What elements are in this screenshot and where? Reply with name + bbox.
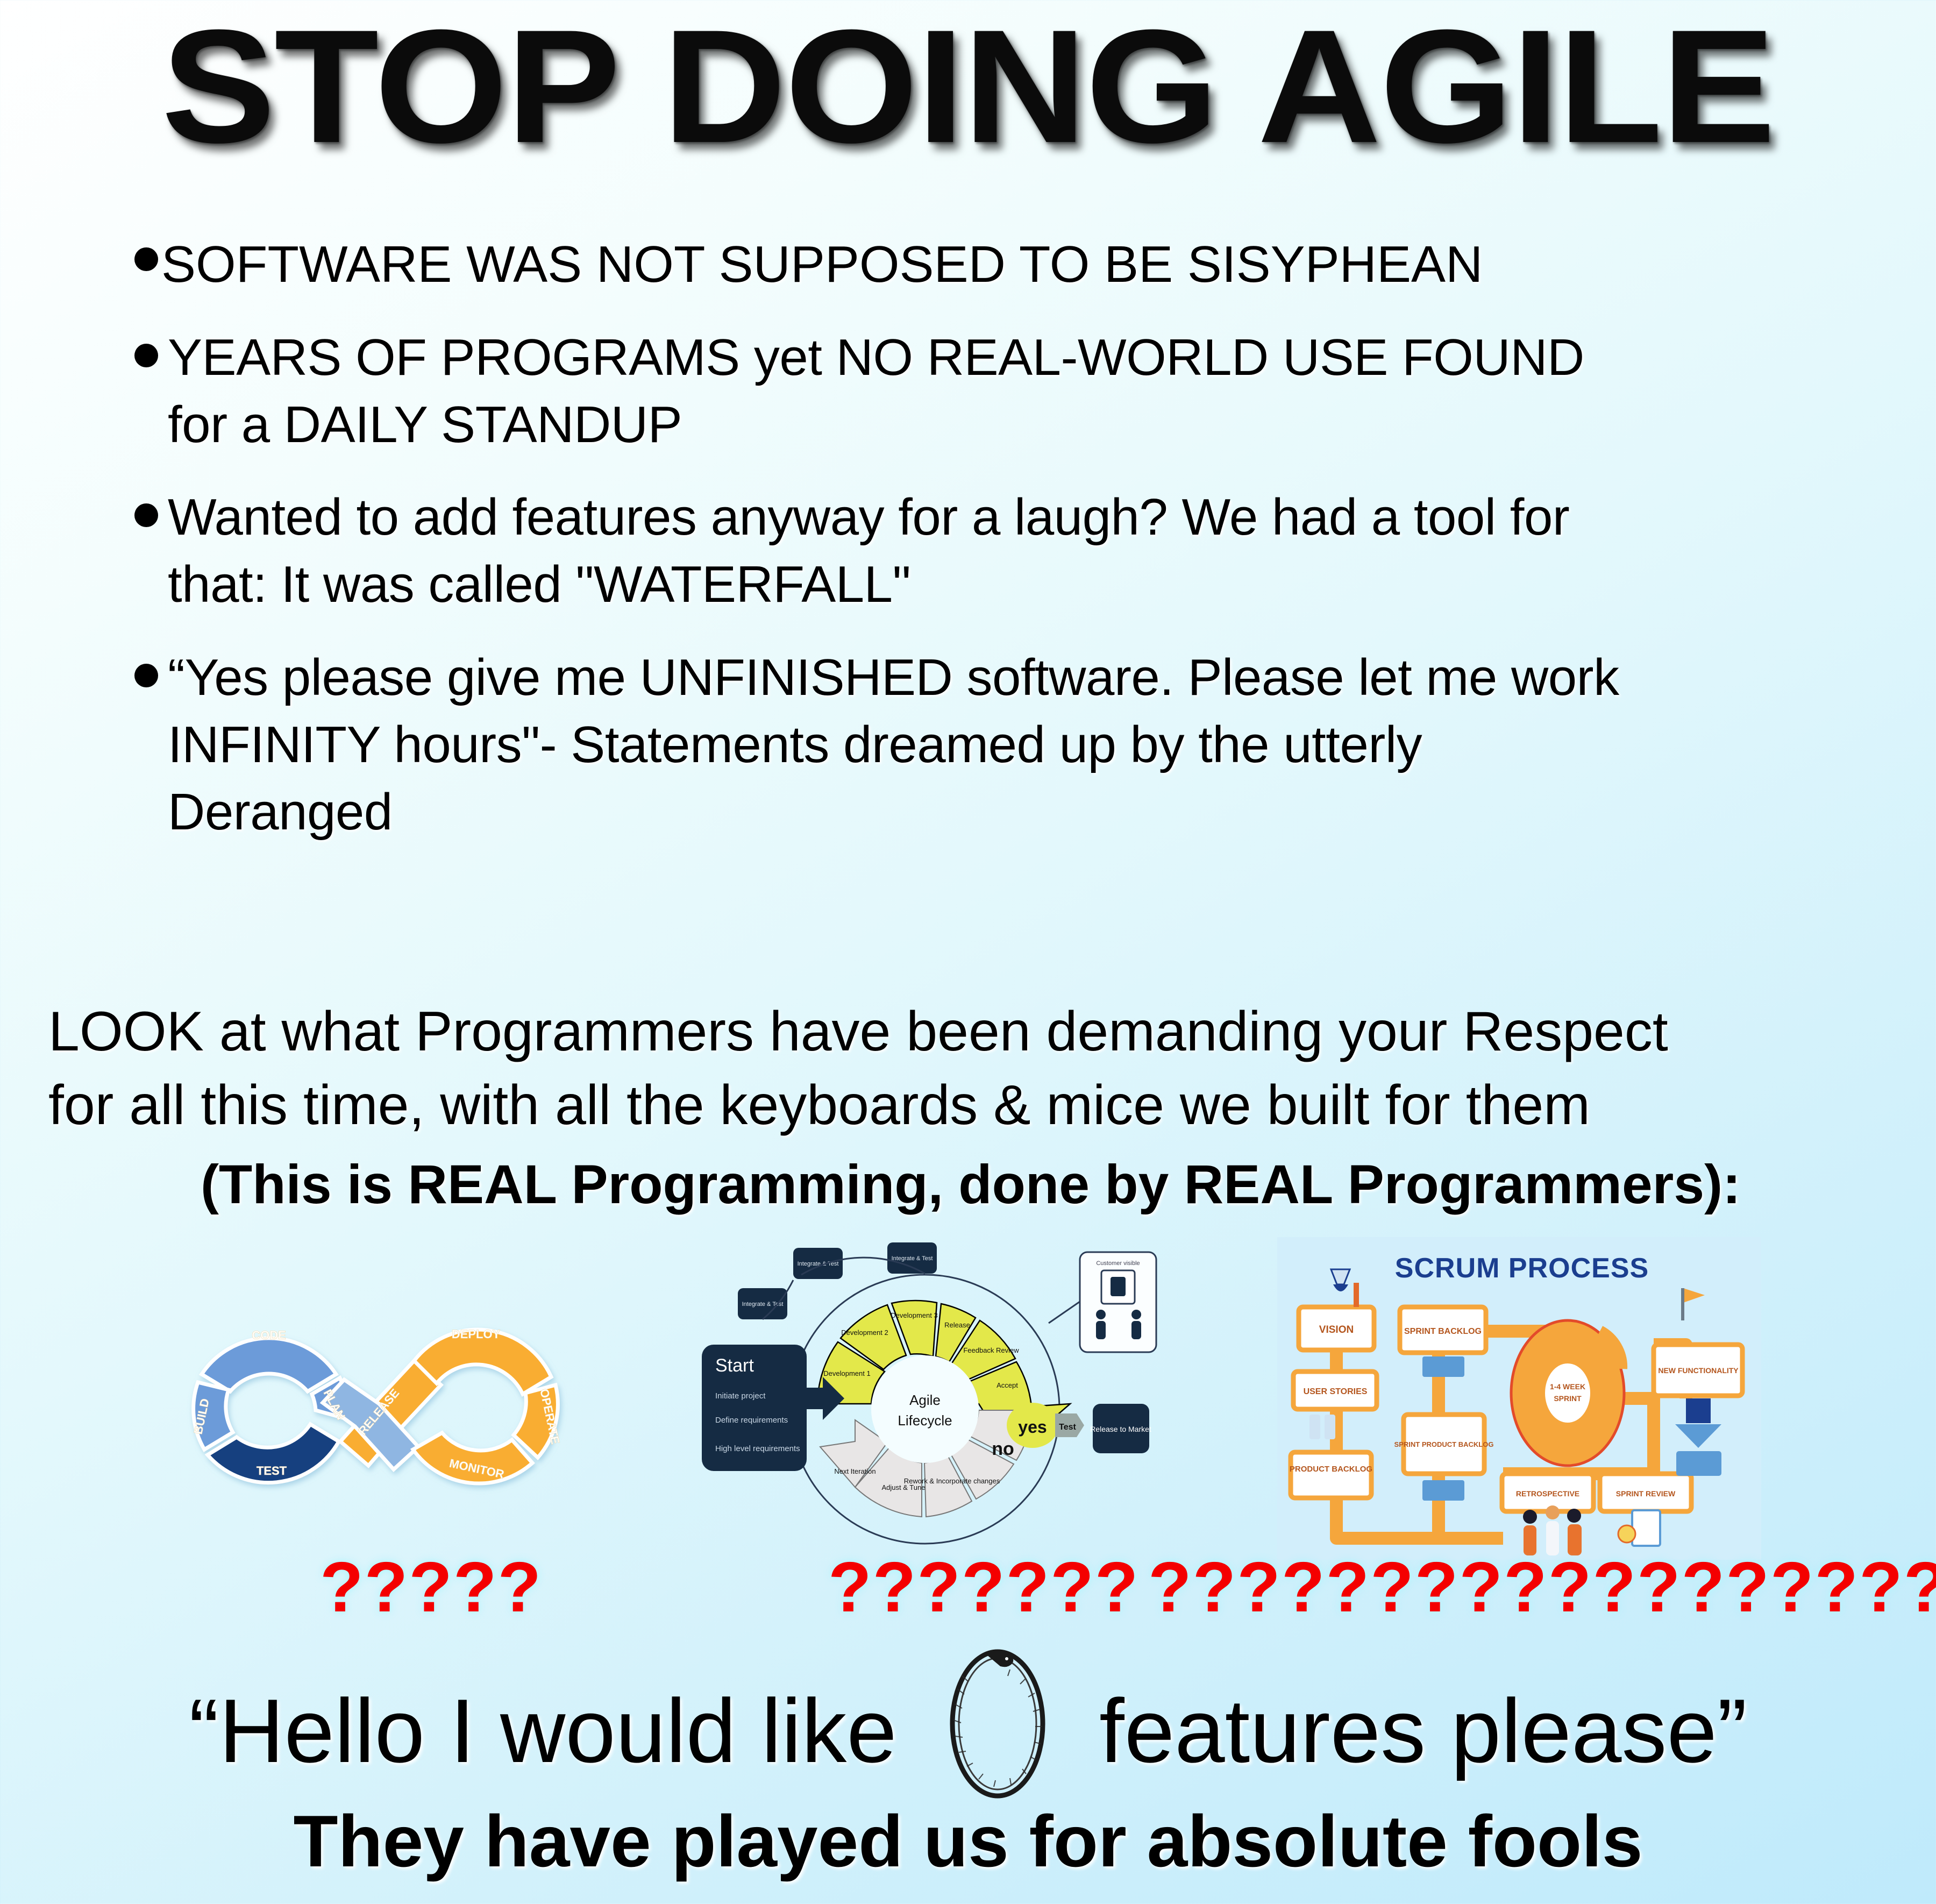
scrum-box-product-backlog — [1291, 1452, 1371, 1498]
bullet-dot-icon — [134, 503, 158, 527]
scrum-box-vision-label: VISION — [1319, 1324, 1354, 1335]
bullet-text: SOFTWARE WAS NOT SUPPOSED TO BE SISYPHEA… — [161, 231, 1845, 299]
bullet-item-deranged: “Yes please give me UNFINISHED software.… — [134, 644, 1845, 846]
bullet-line: YEARS OF PROGRAMS yet NO REAL-WORLD USE … — [168, 329, 1584, 386]
devops-label-code: CODE — [252, 1328, 286, 1342]
agile-start-line-1: Initiate project — [715, 1391, 766, 1401]
scrum-box-sprint-backlog-label: SPRINT BACKLOG — [1404, 1327, 1482, 1336]
hello-after-text: features please” — [1099, 1680, 1747, 1781]
agile-label-dev3: Development 3 — [891, 1311, 937, 1319]
agile-label-accept: Accept — [997, 1381, 1018, 1389]
agile-start-line-3: High level requirements — [715, 1444, 800, 1453]
agile-label-release: Release — [944, 1321, 970, 1329]
look-line-1: LOOK at what Programmers have been deman… — [48, 995, 1893, 1069]
agile-label-no: no — [992, 1439, 1014, 1459]
bullet-line: Wanted to add features anyway for a laug… — [168, 488, 1569, 546]
bullet-text: Wanted to add features anyway for a laug… — [168, 484, 1845, 619]
scrum-box-new-functionality-label: NEW FUNCTIONALITY — [1658, 1366, 1739, 1375]
agile-label-rework: Rework & Incorporate changes — [904, 1477, 1000, 1485]
scrum-box-retrospective-label: RETROSPECTIVE — [1516, 1489, 1579, 1498]
scrum-card-icon-2 — [1422, 1480, 1464, 1501]
bullet-list: SOFTWARE WAS NOT SUPPOSED TO BE SISYPHEA… — [134, 231, 1845, 871]
scrum-note-icon — [1309, 1415, 1320, 1439]
agile-label-yes: yes — [1018, 1417, 1047, 1437]
bullet-dot-icon — [134, 664, 158, 687]
hello-before-text: “Hello I would like — [189, 1680, 897, 1781]
diagram-row: CODE PLAN BUILD TEST DEPLOY RELEASE OPER… — [0, 1237, 1936, 1571]
scrum-title: SCRUM PROCESS — [1395, 1253, 1649, 1284]
agile-release-box-label: Release to Market — [1090, 1425, 1151, 1433]
question-marks-scrum: ?????????????????? — [1148, 1552, 1936, 1623]
bullet-dot-icon — [134, 344, 158, 367]
page-title: STOP DOING AGILE — [161, 5, 1774, 167]
look-line-3-real-programming: (This is REAL Programming, done by REAL … — [48, 1148, 1893, 1221]
look-line-2: for all this time, with all the keyboard… — [48, 1069, 1893, 1142]
closing-line: They have played us for absolute fools — [0, 1804, 1936, 1878]
question-marks-agile: ??????? — [828, 1552, 1139, 1623]
bullet-text: YEARS OF PROGRAMS yet NO REAL-WORLD USE … — [168, 324, 1845, 459]
question-mark-row: ????? ??????? ?????????????????? — [0, 1552, 1936, 1616]
agile-label-feedback: Feedback Review — [963, 1346, 1019, 1354]
agile-label-next-iteration: Next Iteration — [834, 1467, 876, 1475]
agile-center-label-1: Agile — [909, 1392, 941, 1408]
scrum-box-sprint-product-backlog-label: SPRINT PRODUCT BACKLOG — [1394, 1440, 1494, 1448]
ouroboros-icon — [940, 1646, 1056, 1816]
scrum-wheel-label-2: SPRINT — [1554, 1394, 1582, 1403]
agile-lifecycle-diagram: Agile Lifecycle Start Initiate project D… — [694, 1242, 1178, 1565]
agile-start-title: Start — [715, 1355, 754, 1376]
question-marks-devops: ????? — [320, 1552, 542, 1623]
devops-infinity-diagram: CODE PLAN BUILD TEST DEPLOY RELEASE OPER… — [161, 1280, 592, 1528]
title-area: STOP DOING AGILE — [0, 5, 1936, 167]
scrum-card-icon-1 — [1422, 1356, 1464, 1377]
scrum-pipe-accent — [1354, 1283, 1359, 1307]
scrum-box-product-backlog-label: PRODUCT BACKLOG — [1290, 1465, 1372, 1474]
scrum-process-diagram: SCRUM PROCESS 1-4 WEEK SPRINT — [1277, 1237, 1761, 1560]
hello-features-line: “Hello I would like features please” — [0, 1646, 1936, 1816]
bullet-text: “Yes please give me UNFINISHED software.… — [168, 644, 1845, 846]
agile-label-dev2: Development 2 — [841, 1328, 888, 1337]
devops-segment-code — [202, 1338, 336, 1391]
scrum-box-user-stories-label: USER STORIES — [1304, 1387, 1368, 1396]
bullet-dot-icon — [134, 247, 158, 271]
agile-label-test: Test — [1059, 1423, 1076, 1432]
devops-label-test: TEST — [257, 1464, 287, 1477]
scrum-bulb-icon — [1618, 1525, 1635, 1543]
bullet-line: SOFTWARE WAS NOT SUPPOSED TO BE SISYPHEA… — [161, 236, 1483, 293]
scrum-output-block — [1676, 1451, 1721, 1476]
bullet-line: Deranged — [168, 783, 393, 841]
agile-customer-panel-title: Customer visible — [1096, 1260, 1140, 1267]
look-paragraph: LOOK at what Programmers have been deman… — [48, 995, 1893, 1220]
agile-label-dev1: Development 1 — [823, 1369, 870, 1377]
scrum-wheel-label-1: 1-4 WEEK — [1550, 1382, 1585, 1391]
scrum-down-arrow-icon — [1686, 1398, 1711, 1423]
meme-canvas: STOP DOING AGILE SOFTWARE WAS NOT SUPPOS… — [0, 0, 1936, 1904]
bullet-line: INFINITY hours"- Statements dreamed up b… — [168, 716, 1422, 773]
agile-screen-inner-icon — [1111, 1277, 1126, 1296]
bullet-item-sisyphean: SOFTWARE WAS NOT SUPPOSED TO BE SISYPHEA… — [134, 231, 1845, 299]
agile-center-hub — [871, 1355, 979, 1463]
bullet-line: for a DAILY STANDUP — [168, 396, 682, 453]
agile-center-label-2: Lifecycle — [898, 1412, 952, 1429]
bullet-item-daily-standup: YEARS OF PROGRAMS yet NO REAL-WORLD USE … — [134, 324, 1845, 459]
devops-segment-monitor — [413, 1433, 532, 1483]
agile-start-line-2: Define requirements — [715, 1416, 788, 1425]
scrum-sprint-wheel-hub — [1545, 1363, 1590, 1423]
agile-callout-3-label: Integrate & Test — [892, 1255, 933, 1262]
scrum-doc-icon — [1632, 1510, 1660, 1546]
bullet-line: that: It was called "WATERFALL" — [168, 556, 910, 613]
scrum-box-sprint-review-label: SPRINT REVIEW — [1616, 1489, 1676, 1498]
bullet-line: “Yes please give me UNFINISHED software.… — [168, 649, 1619, 706]
devops-label-deploy: DEPLOY — [452, 1327, 501, 1341]
bullet-item-waterfall: Wanted to add features anyway for a laug… — [134, 484, 1845, 619]
